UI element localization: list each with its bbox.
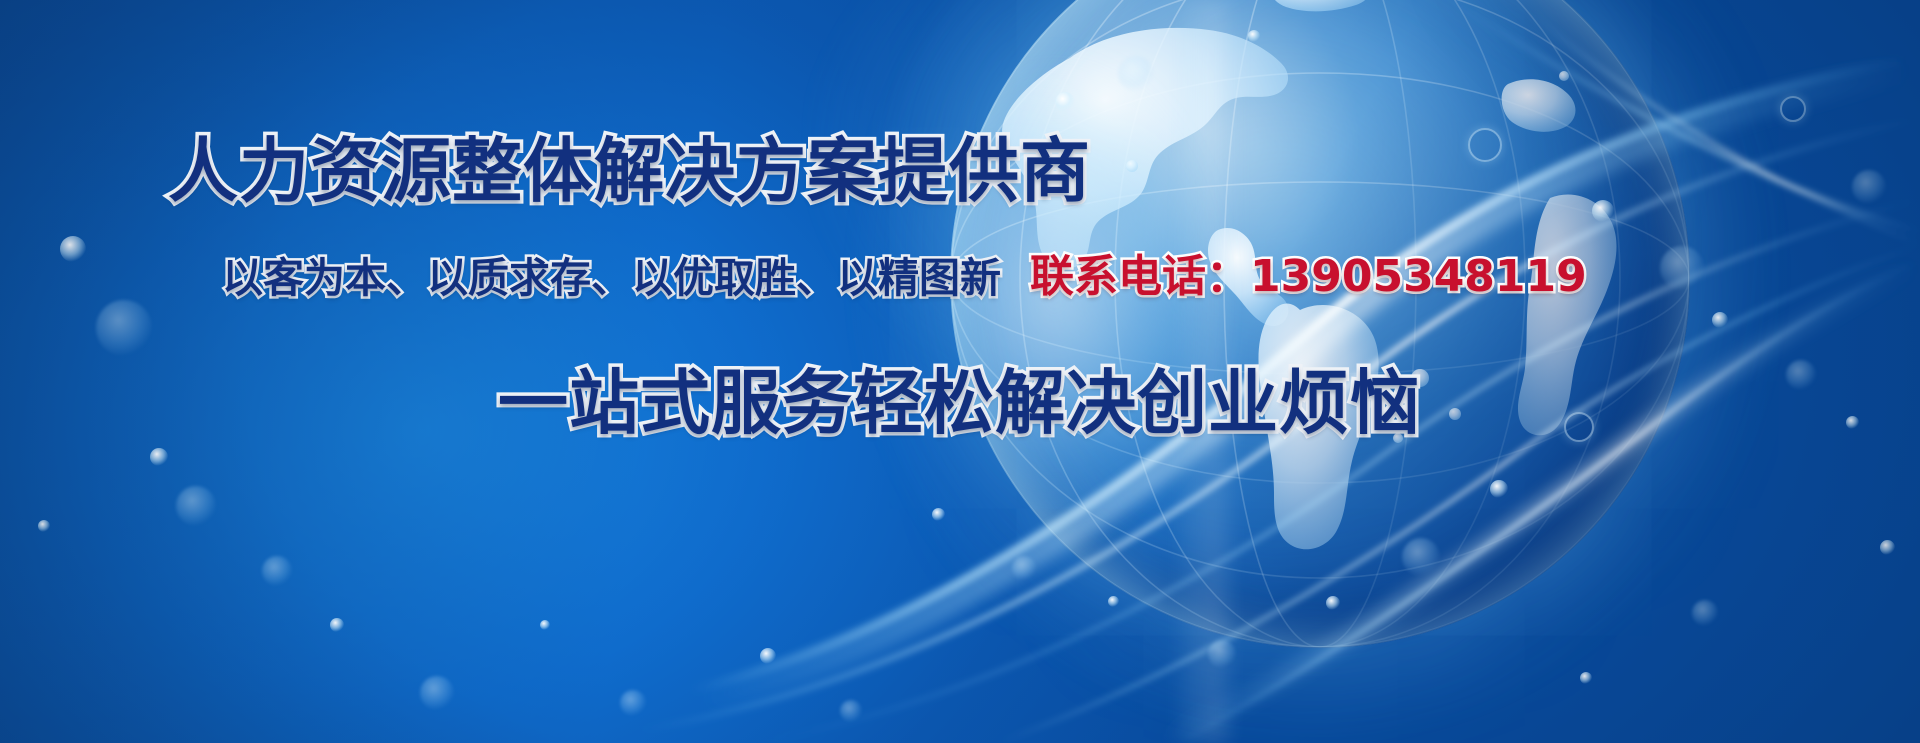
page-title: 人力资源整体解决方案提供商	[168, 136, 1091, 206]
service-tagline: 一站式服务轻松解决创业烦恼	[498, 368, 1421, 438]
contact-phone[interactable]: 联系电话：13905348119	[1030, 255, 1587, 299]
slogan-subtitle: 以客为本、以质求存、以优取胜、以精图新	[222, 258, 1001, 299]
banner-root: 人力资源整体解决方案提供商 以客为本、以质求存、以优取胜、以精图新 联系电话：1…	[0, 0, 1920, 743]
